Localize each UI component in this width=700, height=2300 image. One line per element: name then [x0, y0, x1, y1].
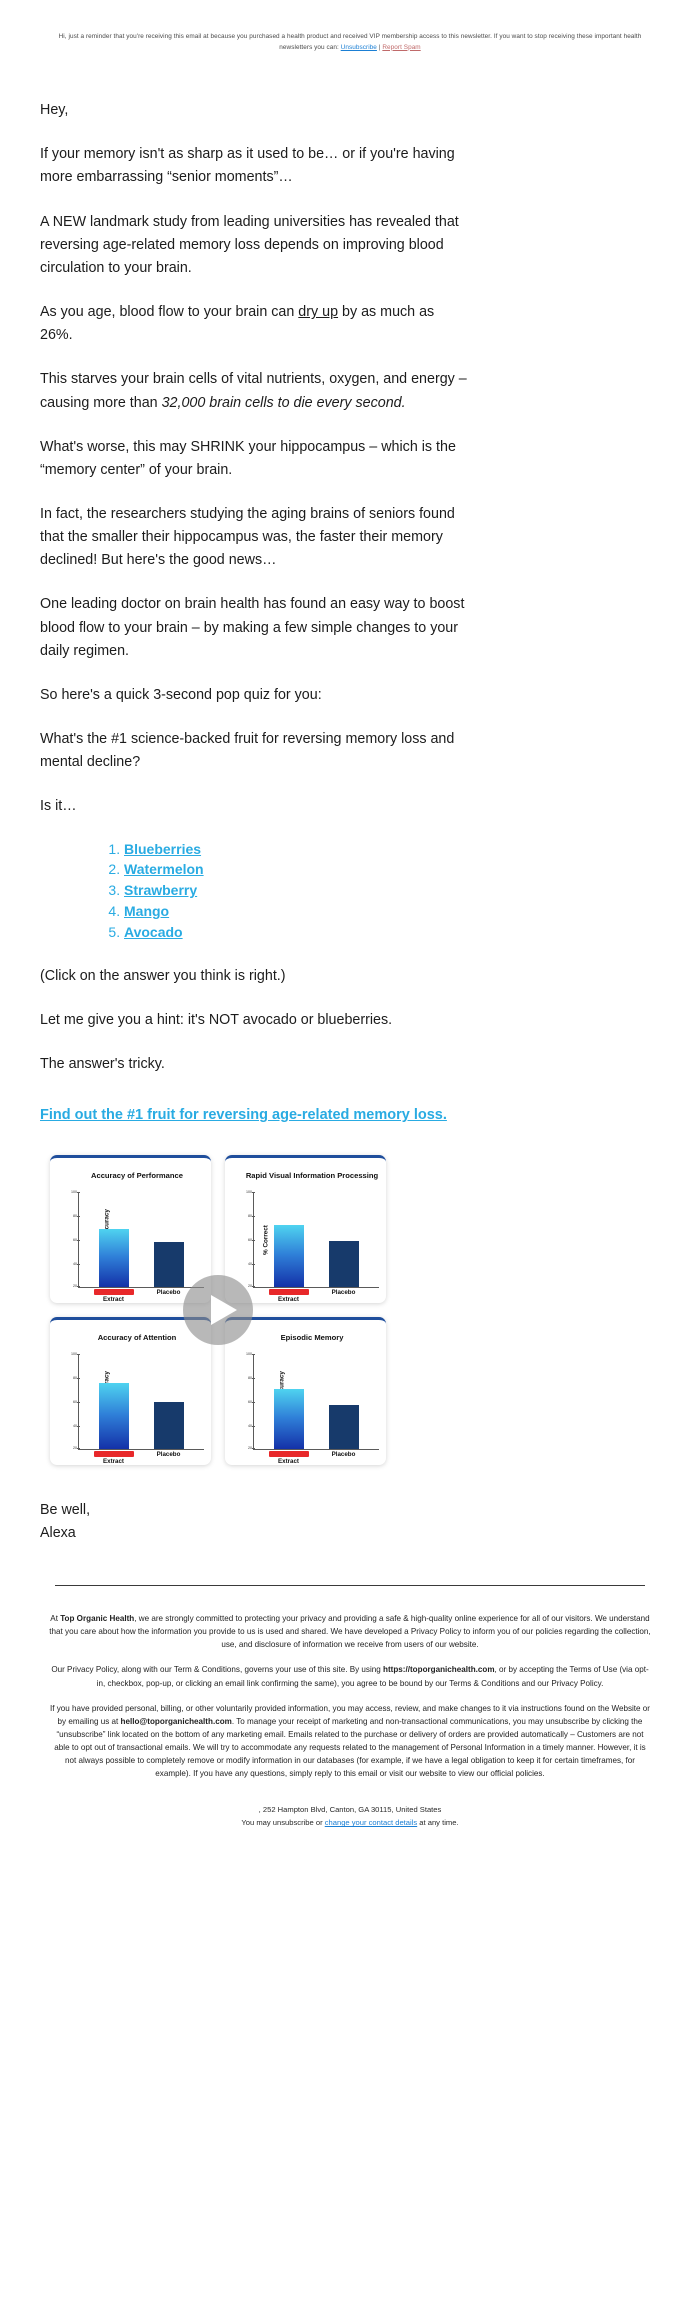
change-contact-details-link[interactable]: change your contact details	[325, 1818, 417, 1827]
legal-p2-a: Our Privacy Policy, along with our Term …	[51, 1665, 383, 1674]
brand-name: Top Organic Health	[60, 1614, 134, 1623]
tricky-text: The answer's tricky.	[40, 1053, 470, 1076]
quiz-options-list: Blueberries Watermelon Strawberry Mango …	[40, 840, 470, 943]
chart-bars	[254, 1354, 379, 1449]
bar-placebo	[329, 1405, 359, 1450]
unsubscribe-text-b: at any time.	[417, 1818, 458, 1827]
chart-plot-area: Average % Accuracy 100 80 60 40 20	[78, 1192, 204, 1288]
email-body: Hey, If your memory isn't as sharp as it…	[0, 99, 700, 1129]
y-tick: 40	[68, 1262, 77, 1266]
chart-title: Rapid Visual Information Processing	[245, 1171, 379, 1190]
bar-extract	[99, 1383, 129, 1450]
list-item[interactable]: Avocado	[124, 923, 470, 943]
website-link[interactable]: https://toporganichealth.com	[383, 1665, 495, 1674]
y-tick: 100	[68, 1352, 77, 1356]
y-tick: 100	[243, 1190, 252, 1194]
paragraph-2: A NEW landmark study from leading univer…	[40, 211, 470, 280]
chart-bars	[79, 1354, 204, 1449]
quiz-question: What's the #1 science-backed fruit for r…	[40, 728, 470, 774]
x-label-extract: Extract	[91, 1289, 137, 1303]
paragraph-4: This starves your brain cells of vital n…	[40, 368, 470, 414]
legal-footer: At Top Organic Health, we are strongly c…	[0, 1586, 700, 1780]
signoff-line-2: Alexa	[40, 1522, 700, 1545]
x-label-text: Extract	[278, 1296, 299, 1303]
bar-extract	[274, 1389, 304, 1450]
y-tick: 100	[68, 1190, 77, 1194]
y-tick: 80	[243, 1376, 252, 1380]
redacted-ingredient-name	[269, 1289, 309, 1295]
y-tick: 60	[243, 1238, 252, 1242]
y-tick: 80	[68, 1214, 77, 1218]
paragraph-5: What's worse, this may SHRINK your hippo…	[40, 436, 470, 482]
y-tick: 100	[243, 1352, 252, 1356]
main-cta-link[interactable]: Find out the #1 fruit for reversing age-…	[40, 1107, 447, 1123]
greeting: Hey,	[40, 99, 470, 122]
x-label-extract: Extract	[91, 1451, 137, 1465]
play-button-icon[interactable]	[183, 1275, 253, 1345]
x-label-text: Extract	[278, 1458, 299, 1465]
paragraph-3: As you age, blood flow to your brain can…	[40, 301, 470, 347]
paragraph-is-it: Is it…	[40, 795, 470, 818]
legal-paragraph-3: If you have provided personal, billing, …	[48, 1702, 652, 1781]
paragraph-6: In fact, the researchers studying the ag…	[40, 503, 470, 572]
quiz-option-watermelon[interactable]: Watermelon	[124, 861, 204, 877]
signature-block: Be well, Alexa	[40, 1499, 700, 1545]
unsubscribe-line: You may unsubscribe or change your conta…	[0, 1817, 700, 1830]
x-label-extract: Extract	[266, 1451, 312, 1465]
bar-extract	[274, 1225, 304, 1288]
unsubscribe-link[interactable]: Unsubscribe	[341, 44, 377, 51]
bar-placebo	[154, 1402, 184, 1450]
brain-cells-emphasis: 32,000 brain cells to die every second.	[162, 395, 406, 411]
paragraph-7: One leading doctor on brain health has f…	[40, 593, 470, 662]
mailing-address-block: , 252 Hampton Blvd, Canton, GA 30115, Un…	[0, 1804, 700, 1830]
postal-address: , 252 Hampton Blvd, Canton, GA 30115, Un…	[0, 1804, 700, 1817]
legal-p1-a: At	[50, 1614, 60, 1623]
paragraph-8: So here's a quick 3-second pop quiz for …	[40, 684, 470, 707]
quiz-option-avocado[interactable]: Avocado	[124, 924, 183, 940]
list-item[interactable]: Watermelon	[124, 860, 470, 880]
y-tick: 20	[68, 1284, 77, 1288]
chart-bars	[254, 1192, 379, 1287]
quiz-option-blueberries[interactable]: Blueberries	[124, 841, 201, 857]
chart-bars	[79, 1192, 204, 1287]
legal-p3-b: . To manage your receipt of marketing an…	[54, 1717, 645, 1778]
chart-card-rapid-visual-information-processing: Rapid Visual Information Processing % Co…	[225, 1155, 386, 1303]
chart-plot-area: Average % Accuracy 100 80 60 40 20	[78, 1354, 204, 1450]
bar-extract	[99, 1229, 129, 1288]
y-tick: 80	[68, 1376, 77, 1380]
signoff-line-1: Be well,	[40, 1499, 700, 1522]
list-item[interactable]: Mango	[124, 902, 470, 922]
paragraph-1: If your memory isn't as sharp as it used…	[40, 143, 470, 189]
chart-card-accuracy-of-attention: Accuracy of Attention Average % Accuracy…	[50, 1317, 211, 1465]
x-label-text: Extract	[103, 1296, 124, 1303]
chart-title: Episodic Memory	[245, 1333, 379, 1352]
unsubscribe-text-a: You may unsubscribe or	[241, 1818, 324, 1827]
x-label-text: Extract	[103, 1458, 124, 1465]
legal-paragraph-1: At Top Organic Health, we are strongly c…	[48, 1612, 652, 1651]
y-tick: 60	[243, 1400, 252, 1404]
bar-placebo	[154, 1242, 184, 1288]
chart-card-accuracy-of-performance: Accuracy of Performance Average % Accura…	[50, 1155, 211, 1303]
x-label-placebo: Placebo	[321, 1451, 367, 1465]
chart-x-axis: Extract Placebo	[78, 1451, 204, 1465]
report-spam-link[interactable]: Report Spam	[382, 44, 420, 51]
bar-placebo	[329, 1241, 359, 1288]
hint-text: Let me give you a hint: it's NOT avocado…	[40, 1009, 470, 1032]
list-item[interactable]: Blueberries	[124, 840, 470, 860]
y-tick: 60	[68, 1238, 77, 1242]
chart-plot-area: Average % Accuracy 100 80 60 40 20	[253, 1354, 379, 1450]
x-label-placebo: Placebo	[146, 1451, 192, 1465]
preheader-separator: |	[379, 44, 381, 51]
video-thumbnail-charts[interactable]: Accuracy of Performance Average % Accura…	[50, 1155, 386, 1465]
support-email-link[interactable]: hello@toporganichealth.com	[121, 1717, 232, 1726]
chart-title: Accuracy of Performance	[70, 1171, 204, 1190]
y-tick: 40	[243, 1424, 252, 1428]
legal-paragraph-2: Our Privacy Policy, along with our Term …	[48, 1663, 652, 1689]
preheader-bar: Hi, just a reminder that you're receivin…	[0, 0, 700, 53]
quiz-option-strawberry[interactable]: Strawberry	[124, 882, 197, 898]
y-tick: 80	[243, 1214, 252, 1218]
chart-card-episodic-memory: Episodic Memory Average % Accuracy 100 8…	[225, 1317, 386, 1465]
redacted-ingredient-name	[269, 1451, 309, 1457]
legal-p1-b: , we are strongly committed to protectin…	[49, 1614, 650, 1649]
quiz-option-mango[interactable]: Mango	[124, 903, 169, 919]
chart-x-axis: Extract Placebo	[253, 1289, 379, 1303]
redacted-ingredient-name	[94, 1289, 134, 1295]
x-label-extract: Extract	[266, 1289, 312, 1303]
y-tick: 40	[68, 1424, 77, 1428]
redacted-ingredient-name	[94, 1451, 134, 1457]
y-tick: 20	[243, 1446, 252, 1450]
click-instruction: (Click on the answer you think is right.…	[40, 965, 470, 988]
y-tick: 20	[68, 1446, 77, 1450]
y-tick: 40	[243, 1262, 252, 1266]
dry-up-emphasis: dry up	[298, 304, 338, 320]
y-tick: 60	[68, 1400, 77, 1404]
chart-x-axis: Extract Placebo	[253, 1451, 379, 1465]
paragraph-3-part-a: As you age, blood flow to your brain can	[40, 304, 298, 320]
x-label-placebo: Placebo	[321, 1289, 367, 1303]
list-item[interactable]: Strawberry	[124, 881, 470, 901]
chart-plot-area: % Correct 100 80 60 40 20	[253, 1192, 379, 1288]
chart-title: Accuracy of Attention	[70, 1333, 204, 1352]
